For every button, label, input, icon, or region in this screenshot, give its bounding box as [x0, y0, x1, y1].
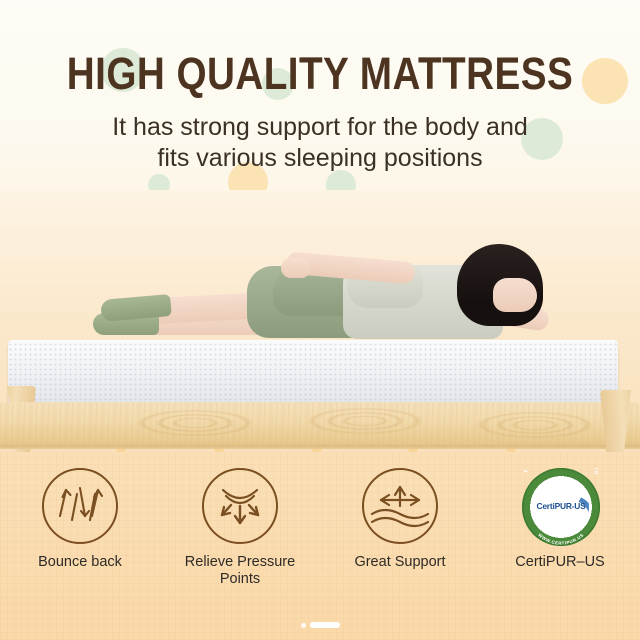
person-hand: [281, 258, 311, 278]
product-scene: [0, 190, 640, 460]
feature-item-relieve-pressure[interactable]: Relieve PressurePoints: [160, 452, 320, 588]
feature-label-line-1: Relieve Pressure: [185, 554, 295, 570]
certipur-wordmark: CertiPUR-US: [533, 501, 589, 511]
feature-label: Bounce back: [38, 554, 122, 571]
feature-item-great-support[interactable]: Great Support: [320, 452, 480, 588]
feature-strip: Bounce back Relieve Pr: [0, 452, 640, 640]
certipur-badge-icon: CERTIFIED FOR USE IN FLEXIBLE POLYURETHA…: [522, 468, 598, 544]
wood-grain-knot: [300, 406, 430, 436]
page-title: HIGH QUALITY MATTRESS: [45, 48, 595, 100]
relieve-pressure-icon: [202, 468, 278, 544]
wood-grain-knot: [130, 408, 260, 438]
person-face: [493, 278, 537, 312]
certipur-swoosh-icon: [533, 488, 589, 535]
person-lying-illustration: [95, 238, 545, 348]
subtitle-line-1: It has strong support for the body and: [0, 112, 640, 143]
great-support-icon: [362, 468, 438, 544]
bounce-back-icon: [42, 468, 118, 544]
carousel-active-pill[interactable]: [310, 622, 340, 628]
mattress: [8, 342, 618, 404]
certipur-inner-disc: CertiPUR-US: [533, 479, 589, 535]
carousel-dot[interactable]: [301, 623, 306, 628]
bed-frame-shadow: [0, 445, 640, 449]
feature-label-line-2: Points: [220, 571, 260, 587]
feature-item-bounce-back[interactable]: Bounce back: [0, 452, 160, 588]
header-section: HIGH QUALITY MATTRESS It has strong supp…: [0, 0, 640, 200]
wood-grain-knot: [470, 410, 600, 440]
subtitle-line-2: fits various sleeping positions: [0, 143, 640, 174]
feature-label: Relieve PressurePoints: [185, 554, 295, 588]
certipur-seal: CERTIFIED FOR USE IN FLEXIBLE POLYURETHA…: [522, 468, 600, 546]
feature-label: CertiPUR–US: [515, 554, 604, 571]
feature-row: Bounce back Relieve Pr: [0, 452, 640, 588]
page-subtitle: It has strong support for the body and f…: [0, 112, 640, 174]
feature-item-certipur[interactable]: CERTIFIED FOR USE IN FLEXIBLE POLYURETHA…: [480, 452, 640, 588]
carousel-indicator[interactable]: [0, 622, 640, 628]
svg-text:CERTIFIED FOR USE IN FLEXIBLE: CERTIFIED FOR USE IN FLEXIBLE POLYURETHA…: [522, 468, 599, 475]
product-image-slide: HIGH QUALITY MATTRESS It has strong supp…: [0, 0, 640, 640]
feature-label: Great Support: [354, 554, 445, 571]
bed-frame-rail: [0, 402, 640, 448]
